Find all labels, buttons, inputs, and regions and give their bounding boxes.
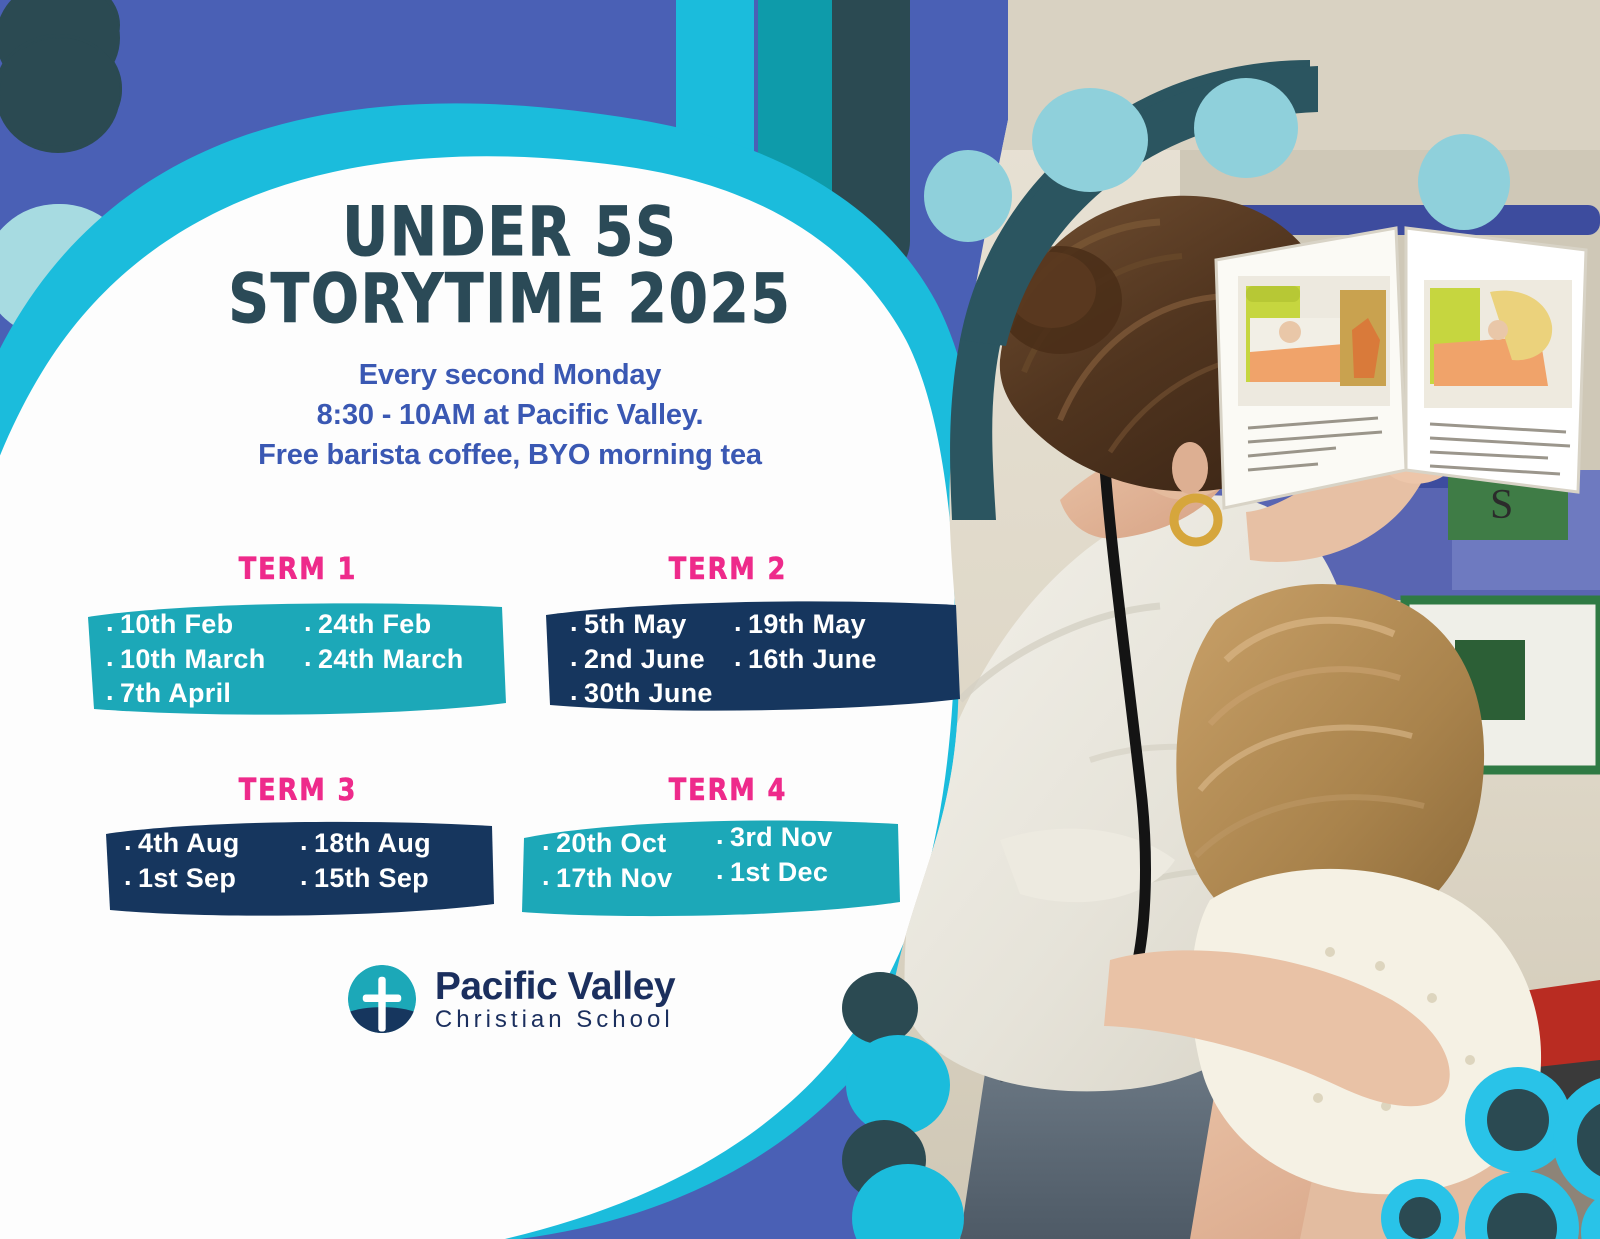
cross-in-circle-icon bbox=[345, 962, 419, 1036]
logo-text-block: Pacific Valley Christian School bbox=[435, 967, 675, 1032]
poster-canvas: S bbox=[0, 0, 1600, 1239]
term-2-date: .5th May bbox=[570, 607, 687, 642]
subtitle-line-1: Every second Monday bbox=[80, 355, 940, 395]
term-4-date: .20th Oct bbox=[542, 826, 666, 861]
subtitle: Every second Monday 8:30 - 10AM at Pacif… bbox=[80, 355, 940, 475]
term-2-label: TERM 2 bbox=[527, 552, 930, 587]
term-2-date: .19th May bbox=[734, 607, 866, 642]
term-2-date: .16th June bbox=[734, 642, 877, 677]
bullet-dot: . bbox=[570, 605, 584, 640]
term-3-dates: .4th Aug .1st Sep .18th Aug .15th Sep bbox=[102, 816, 498, 895]
subtitle-line-2: 8:30 - 10AM at Pacific Valley. bbox=[80, 395, 940, 435]
bullet-dot: . bbox=[304, 605, 318, 640]
term-block-3: TERM 3 .4th Aug .1st Sep .18th Aug bbox=[80, 773, 516, 918]
term-block-1: TERM 1 .10th Feb .10th March .7th April bbox=[80, 552, 516, 717]
bullet-dot: . bbox=[570, 674, 584, 709]
bullet-dot: . bbox=[734, 605, 748, 640]
bullet-dot: . bbox=[300, 859, 314, 894]
bullet-dot: . bbox=[300, 824, 314, 859]
bullet-dot: . bbox=[124, 859, 138, 894]
bullet-dot: . bbox=[716, 818, 730, 853]
bullet-dot: . bbox=[124, 824, 138, 859]
term-1-date: .10th Feb bbox=[106, 607, 233, 642]
poster-content: UNDER 5S STORYTIME 2025 Every second Mon… bbox=[80, 200, 940, 1100]
term-4-blob: .20th Oct .17th Nov .3rd Nov .1st Dec bbox=[518, 816, 904, 918]
term-block-2: TERM 2 .5th May .2nd June .30th June bbox=[516, 552, 940, 717]
bullet-dot: . bbox=[734, 640, 748, 675]
bullet-dot: . bbox=[716, 853, 730, 888]
logo-tagline: Christian School bbox=[435, 1008, 675, 1032]
term-4-date: .3rd Nov bbox=[716, 820, 833, 855]
term-1-date: .7th April bbox=[106, 676, 231, 711]
term-row-2: TERM 3 .4th Aug .1st Sep .18th Aug bbox=[80, 773, 940, 918]
term-1-label: TERM 1 bbox=[91, 552, 505, 587]
term-3-label: TERM 3 bbox=[91, 773, 505, 808]
svg-text:S: S bbox=[1490, 482, 1513, 528]
term-4-date: .17th Nov bbox=[542, 861, 672, 896]
term-1-dates: .10th Feb .10th March .7th April .24th F… bbox=[84, 595, 508, 711]
term-1-date: .24th March bbox=[304, 642, 464, 677]
term-4-dates: .20th Oct .17th Nov .3rd Nov .1st Dec bbox=[518, 816, 904, 895]
subtitle-line-3: Free barista coffee, BYO morning tea bbox=[80, 435, 940, 475]
term-row-1: TERM 1 .10th Feb .10th March .7th April bbox=[80, 552, 940, 717]
bullet-dot: . bbox=[106, 605, 120, 640]
bullet-dot: . bbox=[542, 859, 556, 894]
school-logo: Pacific Valley Christian School bbox=[80, 962, 940, 1036]
term-1-date: .10th March bbox=[106, 642, 266, 677]
term-block-4: TERM 4 .20th Oct .17th Nov .3rd Nov bbox=[516, 773, 940, 918]
term-1-date: .24th Feb bbox=[304, 607, 431, 642]
term-4-date: .1st Dec bbox=[716, 855, 828, 890]
bullet-dot: . bbox=[106, 674, 120, 709]
term-2-date: .30th June bbox=[570, 676, 713, 711]
bullet-dot: . bbox=[570, 640, 584, 675]
page-title: UNDER 5S STORYTIME 2025 bbox=[114, 200, 905, 333]
term-3-blob: .4th Aug .1st Sep .18th Aug .15th Sep bbox=[102, 816, 498, 918]
logo-school-name: Pacific Valley bbox=[435, 967, 675, 1006]
bullet-dot: . bbox=[304, 640, 318, 675]
term-3-date: .18th Aug bbox=[300, 826, 431, 861]
bullet-dot: . bbox=[542, 824, 556, 859]
bullet-dot: . bbox=[106, 640, 120, 675]
title-line-2: STORYTIME 2025 bbox=[114, 267, 905, 334]
term-1-blob: .10th Feb .10th March .7th April .24th F… bbox=[84, 595, 508, 717]
term-4-label: TERM 4 bbox=[527, 773, 930, 808]
term-3-date: .1st Sep bbox=[124, 861, 236, 896]
term-2-blob: .5th May .2nd June .30th June .19th May … bbox=[542, 595, 962, 713]
term-2-date: .2nd June bbox=[570, 642, 705, 677]
term-3-date: .15th Sep bbox=[300, 861, 429, 896]
term-3-date: .4th Aug bbox=[124, 826, 240, 861]
term-dates-grid: TERM 1 .10th Feb .10th March .7th April bbox=[80, 552, 940, 918]
term-2-dates: .5th May .2nd June .30th June .19th May … bbox=[542, 595, 962, 711]
